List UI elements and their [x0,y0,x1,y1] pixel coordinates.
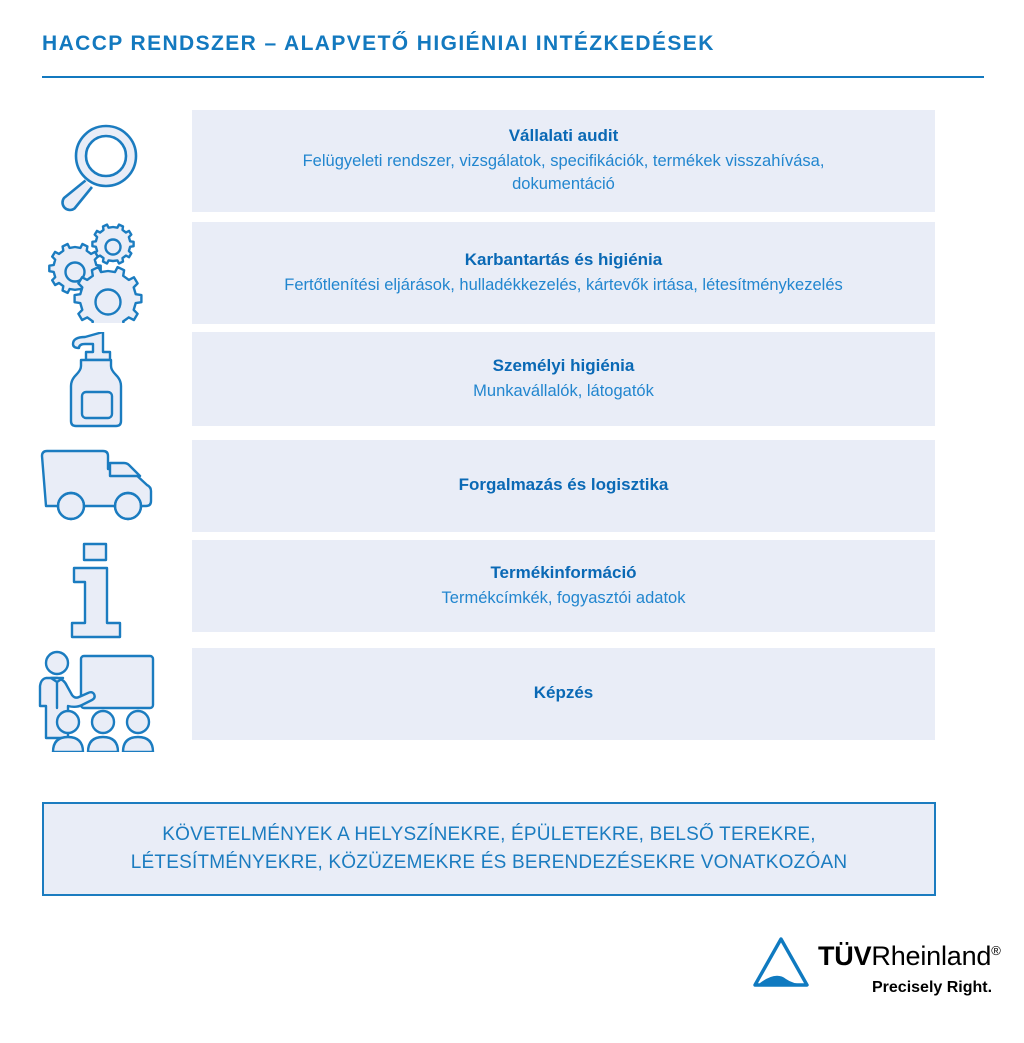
icon-cell [0,540,192,640]
info-letter-icon [65,540,127,640]
panel-title: Személyi higiénia [493,355,635,378]
tuv-rheinland-logo: TÜVRheinland® Precisely Right. [752,935,992,1007]
panel-title: Termékinformáció [490,562,636,585]
logo-wordmark: TÜVRheinland® [818,941,1001,972]
list-item: Képzés [0,648,1024,752]
list-item: Vállalati audit Felügyeleti rendszer, vi… [0,110,1024,214]
page-title: HACCP RENDSZER – ALAPVETŐ HIGIÉNIAI INTÉ… [42,32,715,56]
header-divider [42,76,984,78]
panel-description: Fertőtlenítési eljárások, hulladékkezelé… [284,274,843,297]
list-item: Termékinformáció Termékcímkék, fogyasztó… [0,540,1024,640]
panel-description: Felügyeleti rendszer, vizsgálatok, speci… [254,150,874,197]
content-panel: Képzés [192,648,935,740]
list-item: Személyi higiénia Munkavállalók, látogat… [0,332,1024,432]
logo-tagline: Precisely Right. [872,979,992,997]
content-panel: Termékinformáció Termékcímkék, fogyasztó… [192,540,935,632]
icon-cell [0,332,192,432]
registered-mark: ® [991,943,1000,958]
content-panel: Karbantartás és higiénia Fertőtlenítési … [192,222,935,324]
panel-title: Karbantartás és higiénia [465,249,662,272]
icon-cell [0,440,192,532]
requirements-banner-text: KÖVETELMÉNYEK A HELYSZÍNEKRE, ÉPÜLETEKRE… [44,821,934,878]
icon-cell [0,110,192,214]
requirements-banner: KÖVETELMÉNYEK A HELYSZÍNEKRE, ÉPÜLETEKRE… [42,802,936,896]
icon-cell [0,222,192,324]
training-presentation-icon [33,648,159,752]
list-item: Forgalmazás és logisztika [0,440,1024,532]
panel-description: Termékcímkék, fogyasztói adatok [442,587,686,610]
soap-dispenser-icon [57,332,135,432]
gears-icon [44,223,148,323]
magnifier-icon [44,110,148,214]
content-panel: Vállalati audit Felügyeleti rendszer, vi… [192,110,935,212]
list-item: Karbantartás és higiénia Fertőtlenítési … [0,222,1024,324]
panel-title: Képzés [534,682,594,705]
panel-title: Vállalati audit [509,125,619,148]
panel-title: Forgalmazás és logisztika [459,474,669,497]
measures-list: Vállalati audit Felügyeleti rendszer, vi… [0,110,1024,760]
content-panel: Személyi higiénia Munkavállalók, látogat… [192,332,935,426]
delivery-van-icon [36,444,156,528]
content-panel: Forgalmazás és logisztika [192,440,935,532]
icon-cell [0,648,192,752]
logo-word-rheinland: Rheinland [871,941,991,971]
infographic-page: HACCP RENDSZER – ALAPVETŐ HIGIÉNIAI INTÉ… [0,0,1024,1043]
tuv-rheinland-triangle-icon [752,937,810,989]
logo-word-tuv: TÜV [818,941,871,971]
panel-description: Munkavállalók, látogatók [473,380,654,403]
